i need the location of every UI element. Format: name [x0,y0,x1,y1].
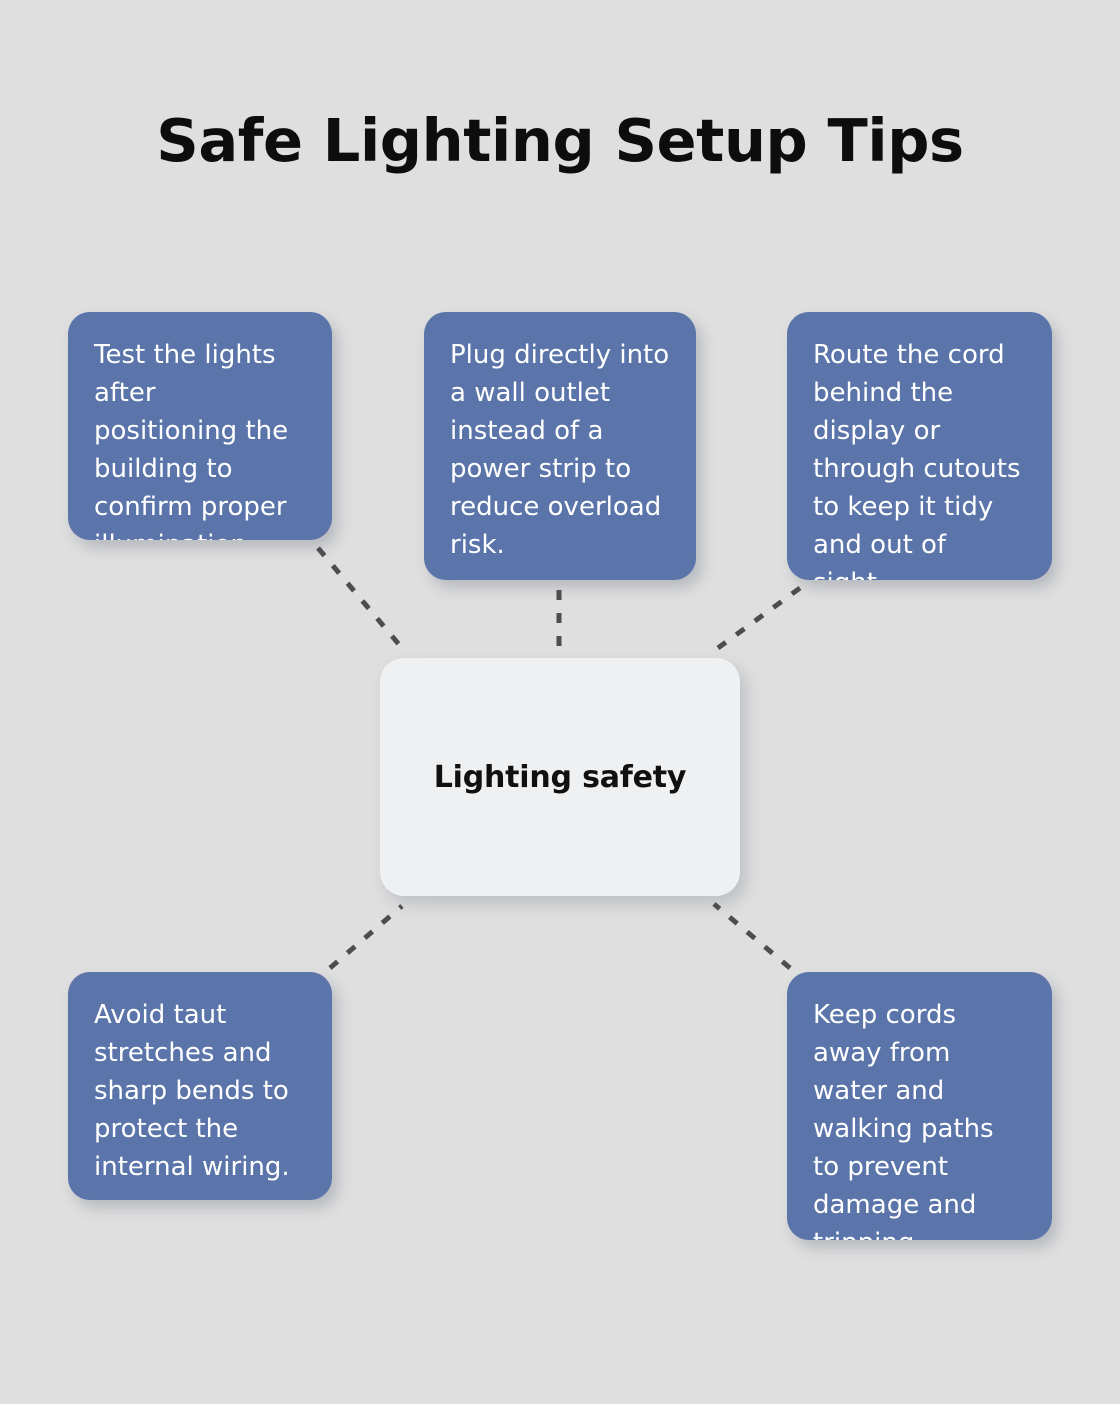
connector-node-3 [718,588,800,648]
tip-node-text: Test the lights after positioning the bu… [94,336,306,540]
tip-node-text: Keep cords away from water and walking p… [813,996,1026,1240]
tip-node-text: Plug directly into a wall outlet instead… [450,336,670,564]
tip-node-text: Avoid taut stretches and sharp bends to … [94,996,306,1186]
connector-node-5 [714,904,790,968]
page-title: Safe Lighting Setup Tips [0,108,1120,174]
tip-node-text: Route the cord behind the display or thr… [813,336,1026,580]
tip-node-bottom-right[interactable]: Keep cords away from water and walking p… [787,972,1052,1240]
tip-node-top-right[interactable]: Route the cord behind the display or thr… [787,312,1052,580]
connector-node-4 [330,906,402,968]
tip-node-bottom-left[interactable]: Avoid taut stretches and sharp bends to … [68,972,332,1200]
tip-node-top-left[interactable]: Test the lights after positioning the bu… [68,312,332,540]
connector-node-1 [318,548,402,648]
center-node-label: Lighting safety [434,760,687,795]
tip-node-top-center[interactable]: Plug directly into a wall outlet instead… [424,312,696,580]
diagram-canvas: Safe Lighting Setup Tips Test the lights… [0,0,1120,1404]
center-node[interactable]: Lighting safety [380,658,740,896]
